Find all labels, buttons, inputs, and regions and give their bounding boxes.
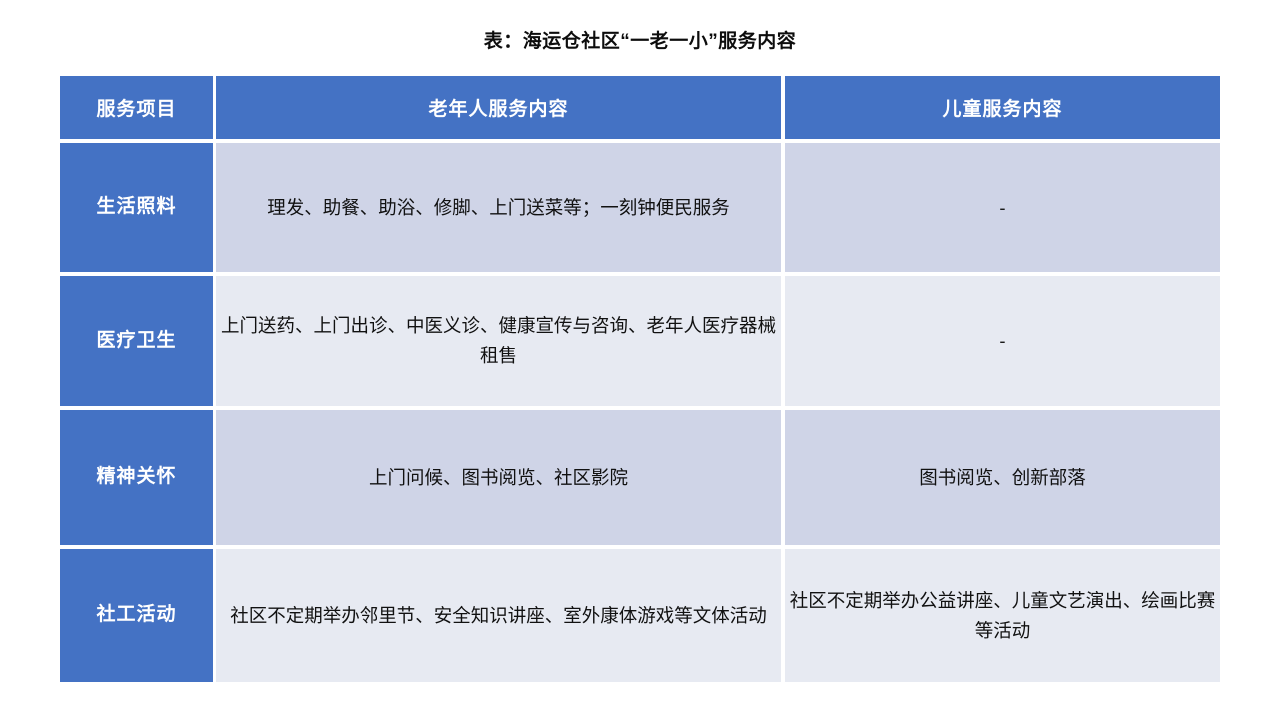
cell-child-spiritual-care: 图书阅览、创新部落	[785, 406, 1220, 545]
cell-elderly-spiritual-care: 上门问候、图书阅览、社区影院	[216, 406, 785, 545]
row-label-daily-care: 生活照料	[60, 139, 216, 272]
cell-child-medical-health: -	[785, 272, 1220, 406]
cell-child-daily-care: -	[785, 139, 1220, 272]
cell-elderly-daily-care: 理发、助餐、助浴、修脚、上门送菜等；一刻钟便民服务	[216, 139, 785, 272]
table-row: 医疗卫生 上门送药、上门出诊、中医义诊、健康宣传与咨询、老年人医疗器械租售 -	[60, 272, 1220, 406]
row-label-social-work-activity: 社工活动	[60, 545, 216, 682]
table-header-row: 服务项目 老年人服务内容 儿童服务内容	[60, 76, 1220, 139]
row-label-spiritual-care: 精神关怀	[60, 406, 216, 545]
column-header-service-item: 服务项目	[60, 76, 216, 139]
column-header-elderly-service: 老年人服务内容	[216, 76, 785, 139]
cell-elderly-medical-health: 上门送药、上门出诊、中医义诊、健康宣传与咨询、老年人医疗器械租售	[216, 272, 785, 406]
cell-elderly-social-work-activity: 社区不定期举办邻里节、安全知识讲座、室外康体游戏等文体活动	[216, 545, 785, 682]
table-row: 社工活动 社区不定期举办邻里节、安全知识讲座、室外康体游戏等文体活动 社区不定期…	[60, 545, 1220, 682]
cell-child-social-work-activity: 社区不定期举办公益讲座、儿童文艺演出、绘画比赛等活动	[785, 545, 1220, 682]
row-label-medical-health: 医疗卫生	[60, 272, 216, 406]
service-content-table: 服务项目 老年人服务内容 儿童服务内容 生活照料 理发、助餐、助浴、修脚、上门送…	[60, 76, 1220, 682]
column-header-child-service: 儿童服务内容	[785, 76, 1220, 139]
page-title: 表：海运仓社区“一老一小”服务内容	[0, 26, 1280, 53]
table-row: 精神关怀 上门问候、图书阅览、社区影院 图书阅览、创新部落	[60, 406, 1220, 545]
table-row: 生活照料 理发、助餐、助浴、修脚、上门送菜等；一刻钟便民服务 -	[60, 139, 1220, 272]
